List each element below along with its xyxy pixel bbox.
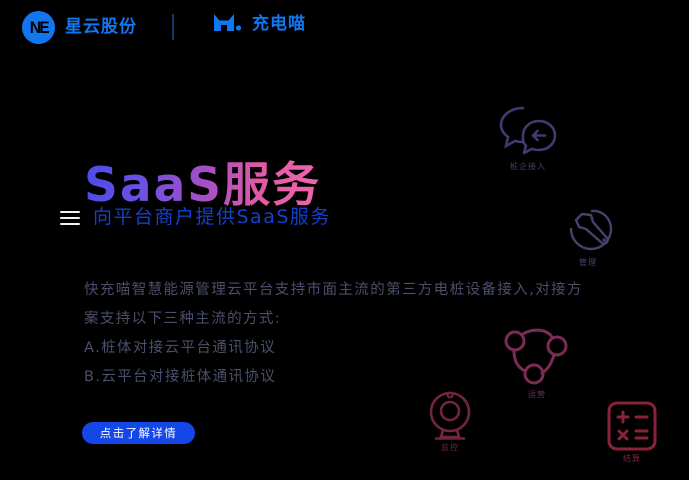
calculator-icon [606, 400, 658, 452]
deco-label: 管理 [579, 259, 597, 267]
deco-network: 运营 [501, 324, 573, 399]
network-nodes-icon [501, 324, 573, 388]
deco-label: 运营 [528, 391, 546, 399]
page-subtitle: 向平台商户提供SaaS服务 [93, 208, 331, 227]
deco-calculator: 结算 [606, 400, 658, 463]
cat-megaphone-logo-icon [213, 12, 245, 36]
subtitle-row: 向平台商户提供SaaS服务 [60, 208, 331, 227]
secondary-brand[interactable]: 充电喵 [213, 12, 306, 36]
deco-chat-bubbles: 桩企接入 [497, 104, 559, 171]
ne-logo-glyph: NE [29, 19, 47, 36]
deco-camera: 监控 [425, 389, 475, 452]
page-header: NE 星云股份 充电喵 [0, 0, 689, 56]
deco-wrench: 管理 [562, 208, 614, 267]
hamburger-menu-icon [60, 211, 80, 225]
deco-label: 结算 [623, 455, 641, 463]
secondary-brand-name: 充电喵 [252, 16, 306, 33]
learn-more-button[interactable]: 点击了解详情 [82, 422, 195, 444]
chat-bubbles-arrow-icon [497, 104, 559, 160]
deco-label: 监控 [441, 444, 459, 452]
camera-monitor-icon [425, 389, 475, 441]
deco-label: 桩企接入 [510, 163, 546, 171]
wrench-icon [562, 208, 614, 256]
page-root: NE 星云股份 充电喵 SaaS服务 向平台商户提供SaaS服务 快充喵智慧能源… [0, 0, 689, 480]
primary-brand[interactable]: NE 星云股份 [22, 11, 137, 44]
ne-circle-logo-icon: NE [22, 11, 55, 44]
header-divider [172, 14, 174, 40]
primary-brand-name: 星云股份 [65, 19, 137, 36]
